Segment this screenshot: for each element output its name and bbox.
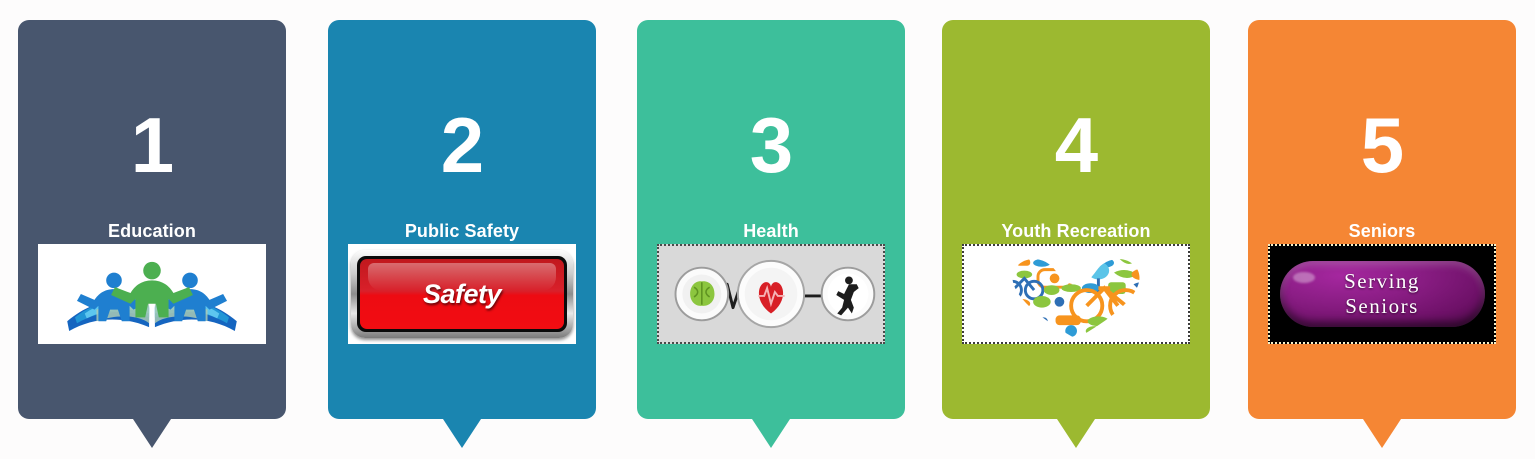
youth-recreation-image [962, 244, 1190, 344]
youth-recreation-heart-collage-icon [962, 244, 1190, 344]
serving-seniors-image: Serving Seniors [1268, 244, 1496, 344]
card-pointer [1057, 419, 1095, 448]
health-ekg-icon [657, 244, 885, 344]
card-pointer [443, 419, 481, 448]
callout-card-education[interactable]: 1 Education [18, 20, 286, 419]
card-pointer [1363, 419, 1401, 448]
safety-button-face: Safety [360, 259, 564, 329]
safety-button-text: Safety [423, 279, 501, 310]
card-label: Health [637, 220, 905, 242]
callout-card-row: 1 Education [0, 0, 1535, 459]
health-ekg-image [657, 244, 885, 344]
serving-seniors-line-1: Serving [1344, 269, 1420, 294]
card-pointer [133, 419, 171, 448]
card-label: Public Safety [328, 220, 596, 242]
card-label: Seniors [1248, 220, 1516, 242]
card-number: 2 [328, 106, 596, 184]
card-label: Education [18, 220, 286, 242]
safety-button-image: Safety [348, 244, 576, 344]
card-media-youth-recreation [962, 244, 1190, 344]
education-logo-image [38, 244, 266, 344]
card-label: Youth Recreation [942, 220, 1210, 242]
callout-card-public-safety[interactable]: 2 Public Safety Safety [328, 20, 596, 419]
serving-seniors-pill: Serving Seniors [1280, 261, 1485, 327]
education-logo-icon [38, 244, 266, 344]
card-number: 5 [1248, 106, 1516, 184]
card-number: 3 [637, 106, 905, 184]
card-media-health [657, 244, 885, 344]
safety-button-inner: Safety [357, 256, 567, 332]
card-media-public-safety: Safety [348, 244, 576, 344]
card-media-seniors: Serving Seniors [1268, 244, 1496, 344]
card-number: 4 [942, 106, 1210, 184]
card-number: 1 [18, 106, 286, 184]
callout-card-health[interactable]: 3 Health [637, 20, 905, 419]
card-pointer [752, 419, 790, 448]
safety-button-bezel: Safety [351, 250, 573, 338]
card-media-education [38, 244, 266, 344]
callout-card-seniors[interactable]: 5 Seniors Serving Seniors [1248, 20, 1516, 419]
callout-card-youth-recreation[interactable]: 4 Youth Recreation [942, 20, 1210, 419]
serving-seniors-line-2: Seniors [1345, 294, 1419, 319]
